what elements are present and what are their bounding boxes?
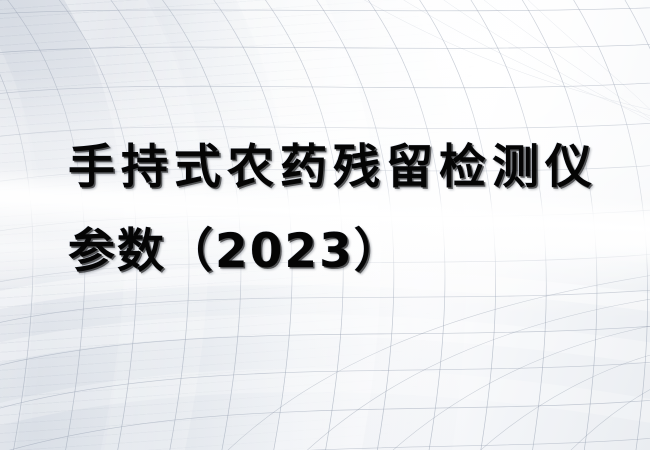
mesh-lines-accent <box>190 268 650 450</box>
banner-title-line-2: 参数（2023） <box>68 210 598 294</box>
banner-title-line-1: 手持式农药残留检测仪 <box>68 126 598 210</box>
banner-title-block: 手持式农药残留检测仪 参数（2023） <box>68 126 598 294</box>
banner-image: 手持式农药残留检测仪 参数（2023） <box>0 0 650 450</box>
